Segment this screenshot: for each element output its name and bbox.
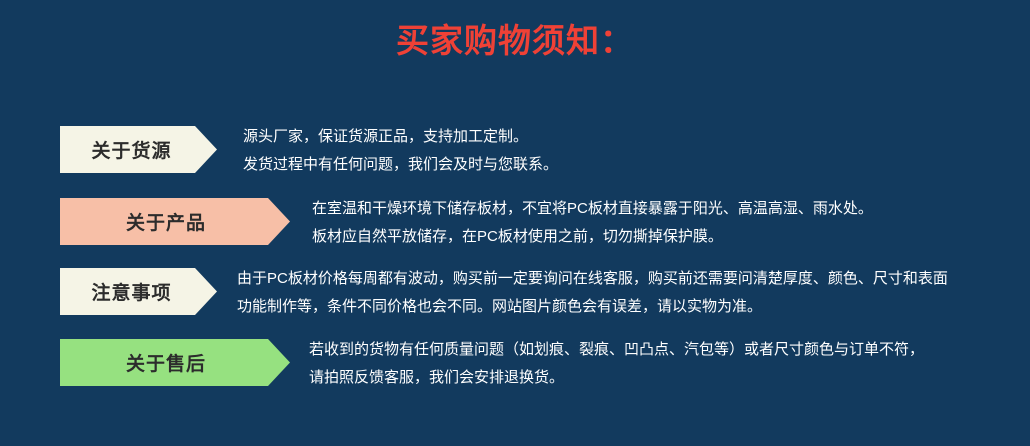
section-banner-1: 关于货源	[60, 126, 217, 173]
section-body-line: 请拍照反馈客服，我们会安排退换货。	[309, 364, 924, 392]
notice-section-2: 关于产品 在室温和干燥环境下储存板材，不宜将PC板材直接暴露于阳光、高温高湿、雨…	[0, 198, 1030, 248]
section-body-line: 发货过程中有任何问题，我们会及时与您联系。	[243, 151, 558, 179]
section-body-line: 源头厂家，保证货源正品，支持加工定制。	[243, 123, 558, 151]
section-banner-2: 关于产品	[60, 198, 290, 245]
section-body-4: 若收到的货物有任何质量问题（如划痕、裂痕、凹凸点、汽包等）或者尺寸颜色与订单不符…	[309, 336, 924, 392]
section-banner-label-1: 关于货源	[91, 136, 171, 163]
section-body-line: 由于PC板材价格每周都有波动，购买前一定要询问在线客服，购买前还需要问清楚厚度、…	[237, 265, 948, 293]
notice-section-1: 关于货源 源头厂家，保证货源正品，支持加工定制。 发货过程中有任何问题，我们会及…	[0, 126, 1030, 176]
section-banner-4: 关于售后	[60, 339, 290, 386]
section-body-2: 在室温和干燥环境下储存板材，不宜将PC板材直接暴露于阳光、高温高湿、雨水处。 板…	[312, 195, 873, 251]
buyer-notice-page: 买家购物须知： 关于货源 源头厂家，保证货源正品，支持加工定制。 发货过程中有任…	[0, 0, 1030, 446]
section-body-line: 在室温和干燥环境下储存板材，不宜将PC板材直接暴露于阳光、高温高湿、雨水处。	[312, 195, 873, 223]
section-body-line: 若收到的货物有任何质量问题（如划痕、裂痕、凹凸点、汽包等）或者尺寸颜色与订单不符…	[309, 336, 924, 364]
notice-section-3: 注意事项 由于PC板材价格每周都有波动，购买前一定要询问在线客服，购买前还需要问…	[0, 268, 1030, 318]
section-banner-label-3: 注意事项	[91, 278, 171, 305]
page-title: 买家购物须知：	[0, 19, 1030, 63]
section-banner-label-4: 关于售后	[126, 349, 206, 376]
section-body-3: 由于PC板材价格每周都有波动，购买前一定要询问在线客服，购买前还需要问清楚厚度、…	[237, 265, 948, 321]
section-body-line: 功能制作等，条件不同价格也会不同。网站图片颜色会有误差，请以实物为准。	[237, 293, 948, 321]
notice-section-4: 关于售后 若收到的货物有任何质量问题（如划痕、裂痕、凹凸点、汽包等）或者尺寸颜色…	[0, 339, 1030, 389]
section-body-1: 源头厂家，保证货源正品，支持加工定制。 发货过程中有任何问题，我们会及时与您联系…	[243, 123, 558, 179]
section-body-line: 板材应自然平放储存，在PC板材使用之前，切勿撕掉保护膜。	[312, 223, 873, 251]
section-banner-label-2: 关于产品	[126, 208, 206, 235]
section-banner-3: 注意事项	[60, 268, 217, 315]
